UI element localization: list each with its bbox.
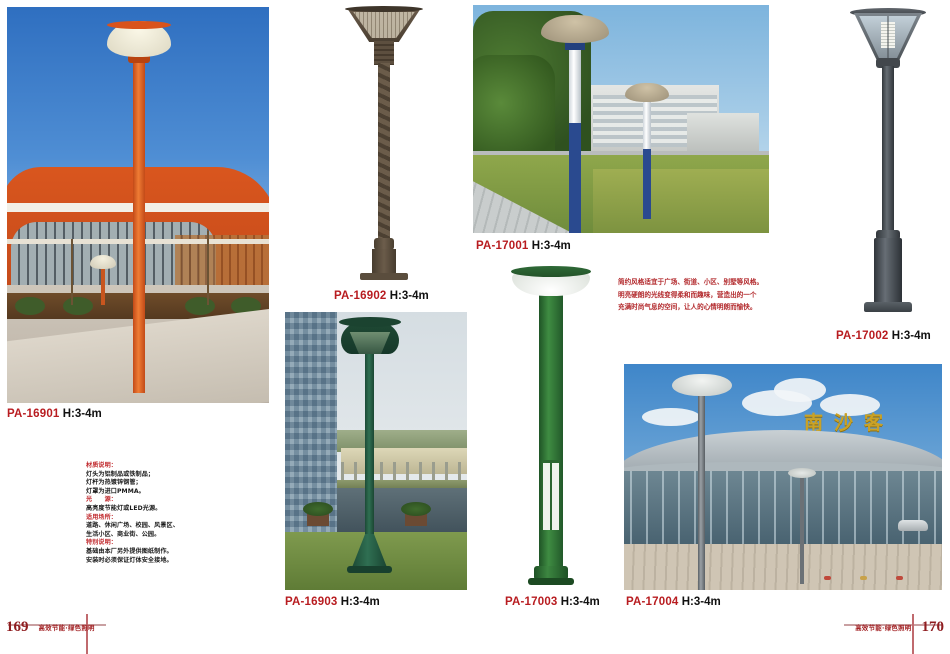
base-plate — [360, 273, 408, 280]
lamp-pole-near — [698, 396, 705, 590]
lamp-collar — [374, 41, 394, 65]
cloud — [774, 378, 826, 402]
product-height: H:3-4m — [561, 596, 600, 608]
blurb-line: 充满时尚气息的空间，让人的心情明朗而愉快。 — [618, 301, 808, 314]
lamp-column — [539, 292, 563, 574]
lamp-pole — [882, 66, 894, 234]
lamp-pole-far — [643, 147, 651, 219]
secondary-lamp-shade — [90, 255, 116, 269]
caption-pa-17002: PA-17002 H:3-4m — [836, 330, 931, 342]
pavilion-columns — [341, 462, 467, 482]
lamp-cap — [339, 317, 401, 327]
product-code: PA-16903 — [285, 596, 338, 608]
caption-pa-17001: PA-17001 H:3-4m — [476, 240, 571, 252]
paving-accent — [860, 576, 867, 580]
base-plate — [347, 566, 392, 573]
lamp-column-far — [643, 101, 651, 149]
product-height: H:3-4m — [390, 290, 429, 302]
product-height: H:3-4m — [682, 596, 721, 608]
product-code: PA-17001 — [476, 240, 529, 252]
product-code: PA-16902 — [334, 290, 387, 302]
catalog-page: PA-16901 H:3-4m PA-16902 H:3-4m — [0, 0, 950, 654]
product-shot-pa-16902 — [330, 4, 438, 282]
tree — [71, 239, 73, 305]
pole-base — [874, 238, 902, 304]
spec-line: 适用场所： — [86, 514, 206, 523]
shrub — [185, 297, 215, 315]
page-number-right: 170 — [922, 619, 945, 636]
product-height: H:3-4m — [341, 596, 380, 608]
planter-foliage — [303, 502, 333, 516]
product-height: H:3-4m — [63, 408, 102, 420]
lamp-pole-far — [800, 476, 804, 584]
spec-line: 基础由本厂另外提供图纸制作。 — [86, 548, 206, 557]
spec-line: 道路、休闲广场、校园、风景区、 — [86, 522, 206, 531]
caption-pa-17004: PA-17004 H:3-4m — [626, 596, 721, 608]
marketing-blurb: 简约风格适宜于广场、街道、小区、别墅等风格。 明亮硬朗的光线变得柔和而趣味，营造… — [618, 276, 808, 314]
base-plate — [528, 578, 574, 585]
secondary-lamp-pole — [101, 265, 105, 305]
product-height: H:3-4m — [532, 240, 571, 252]
column-window-grid — [543, 460, 559, 530]
caption-pa-16903: PA-16903 H:3-4m — [285, 596, 380, 608]
caption-pa-16901: PA-16901 H:3-4m — [7, 408, 102, 420]
lamp-ribs — [858, 16, 918, 58]
tree — [207, 231, 209, 305]
product-code: PA-17003 — [505, 596, 558, 608]
footer-tagline: 高效节能·绿色照明 — [39, 623, 95, 632]
lamp-pole — [365, 354, 374, 550]
blurb-line: 简约风格适宜于广场、街道、小区、别墅等风格。 — [618, 276, 808, 289]
parked-car — [898, 520, 928, 531]
lamp-brim — [345, 6, 423, 12]
lamp-disc-near — [672, 374, 732, 396]
office-building-right — [687, 113, 759, 155]
product-shot-pa-17003 — [498, 262, 604, 590]
lamp-pole — [378, 63, 390, 241]
lamp-disc-far — [625, 83, 669, 102]
specification-block: 材质说明： 灯头为铝制品或铁制品； 灯杆为热镀锌钢管； 灯罩为进口PMMA。 光… — [86, 462, 206, 565]
lamp-column-near — [569, 49, 581, 123]
pole-base — [372, 249, 396, 275]
product-code: PA-17002 — [836, 330, 889, 342]
base-plate — [864, 302, 912, 312]
product-photo-pa-17001 — [473, 5, 769, 233]
product-code: PA-16901 — [7, 408, 60, 420]
lamp-pole — [133, 43, 145, 393]
caption-pa-17003: PA-17003 H:3-4m — [505, 596, 600, 608]
plaza-paving — [624, 544, 942, 590]
shrub — [15, 297, 45, 315]
planter-foliage — [401, 502, 431, 516]
page-number-left: 169 — [6, 619, 29, 636]
lamp-bowl-rim — [511, 266, 591, 277]
cloud — [642, 408, 700, 426]
product-shot-pa-17002 — [834, 4, 942, 322]
product-photo-pa-16901 — [7, 7, 269, 403]
spec-line: 灯杆为热镀锌钢管； — [86, 479, 206, 488]
spec-line: 高亮度节能灯或LED光源。 — [86, 505, 206, 514]
spec-line: 材质说明： — [86, 462, 206, 471]
paving-accent — [896, 576, 903, 580]
footer-left: 169 高效节能·绿色照明 — [6, 616, 95, 638]
spec-line: 光 源： — [86, 496, 206, 505]
lamp-shade — [107, 21, 171, 57]
footer-tagline: 高效节能·绿色照明 — [855, 623, 911, 632]
product-code: PA-17004 — [626, 596, 679, 608]
lawn-far — [593, 169, 769, 233]
terminal-canopy — [624, 462, 942, 471]
lamp-disc-near — [541, 15, 609, 43]
product-height: H:3-4m — [892, 330, 931, 342]
spec-line: 灯头为铝制品或铁制品； — [86, 471, 206, 480]
caption-pa-16902: PA-16902 H:3-4m — [334, 290, 429, 302]
spec-line: 安装时必须保证灯体安全接地。 — [86, 557, 206, 566]
lamp-disc-far — [788, 468, 816, 478]
product-photo-pa-17004: 南沙客 — [624, 364, 942, 590]
footer-right: 高效节能·绿色照明 170 — [855, 616, 944, 638]
product-photo-pa-16903 — [285, 312, 467, 590]
paving-accent — [824, 576, 831, 580]
spec-line: 特别说明： — [86, 539, 206, 548]
shrub — [63, 297, 93, 315]
blurb-line: 明亮硬朗的光线变得柔和而趣味，营造出的一个 — [618, 289, 808, 302]
facade-mullions — [624, 468, 942, 550]
lamp-pole-near — [569, 121, 581, 233]
